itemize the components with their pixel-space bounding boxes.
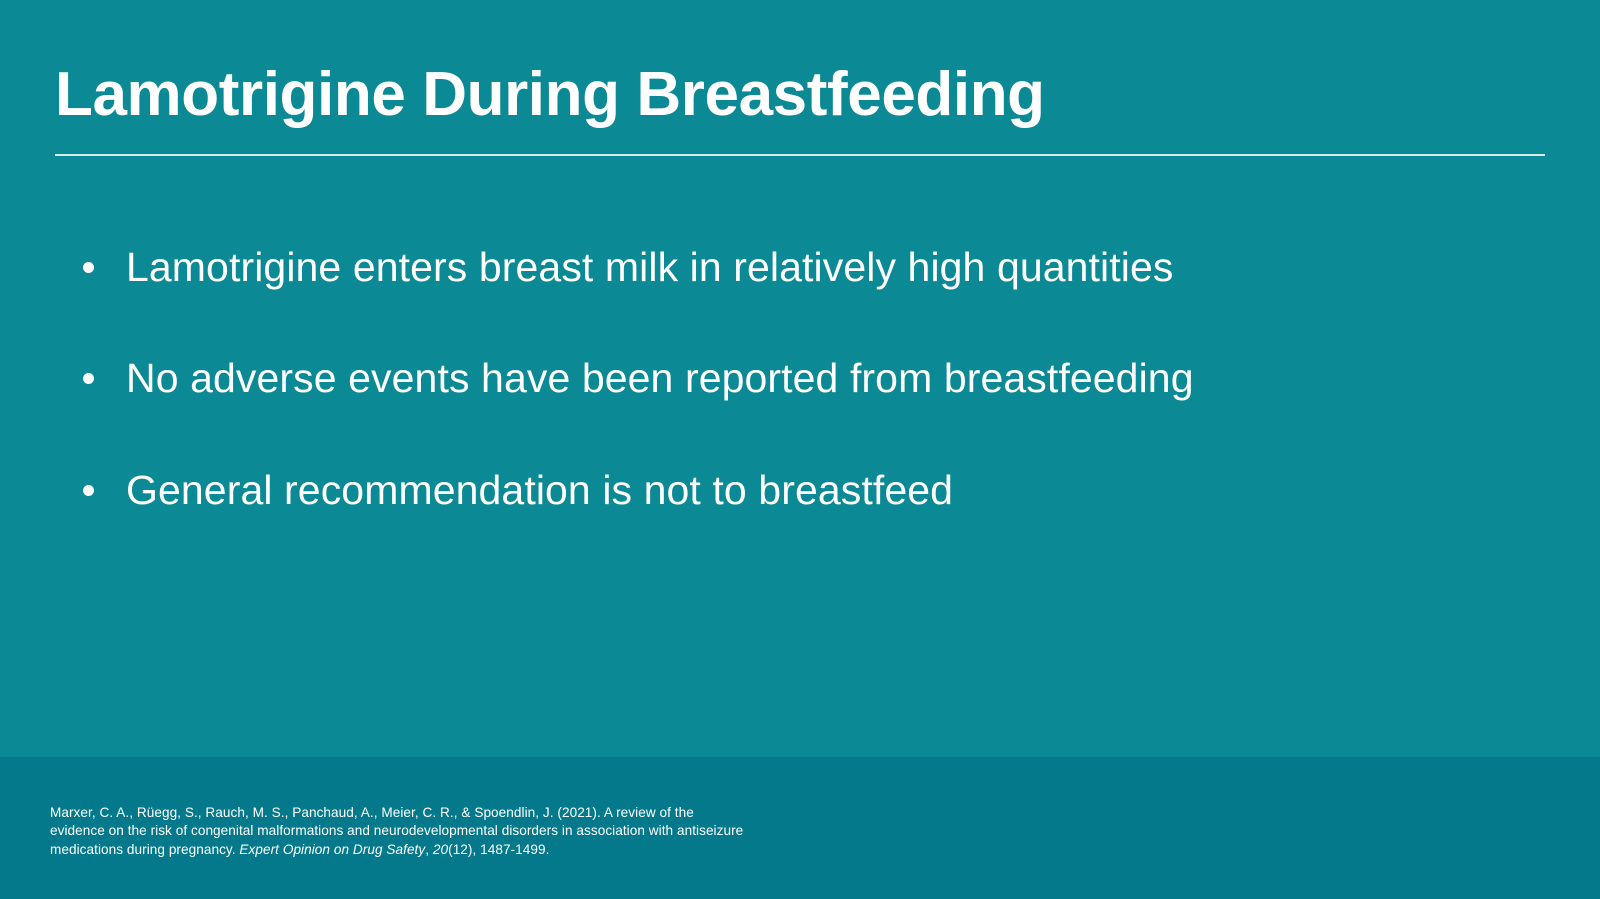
bullet-dot-icon bbox=[83, 485, 94, 496]
slide: Lamotrigine During Breastfeeding Lamotri… bbox=[0, 0, 1600, 899]
list-item: General recommendation is not to breastf… bbox=[78, 466, 1538, 514]
citation-text: Marxer, C. A., Rüegg, S., Rauch, M. S., … bbox=[50, 804, 750, 860]
citation-authors: Marxer, C. A., Rüegg, S., Rauch, M. S., … bbox=[50, 805, 601, 820]
list-item-label: No adverse events have been reported fro… bbox=[126, 355, 1194, 401]
list-item: Lamotrigine enters breast milk in relati… bbox=[78, 243, 1538, 291]
bullet-dot-icon bbox=[83, 373, 94, 384]
citation-pages: 1487-1499. bbox=[480, 842, 549, 857]
title-divider bbox=[55, 154, 1545, 156]
bullet-list: Lamotrigine enters breast milk in relati… bbox=[78, 243, 1538, 514]
citation-volume: 20 bbox=[433, 842, 448, 857]
citation-journal: Expert Opinion on Drug Safety bbox=[239, 842, 425, 857]
footer-band: Marxer, C. A., Rüegg, S., Rauch, M. S., … bbox=[0, 757, 1600, 899]
list-item-label: General recommendation is not to breastf… bbox=[126, 467, 953, 513]
list-item-label: Lamotrigine enters breast milk in relati… bbox=[126, 244, 1173, 290]
bullet-dot-icon bbox=[83, 262, 94, 273]
page-title: Lamotrigine During Breastfeeding bbox=[55, 62, 1545, 128]
list-item: No adverse events have been reported fro… bbox=[78, 354, 1538, 402]
citation-comma: , bbox=[425, 842, 433, 857]
title-block: Lamotrigine During Breastfeeding bbox=[55, 62, 1545, 128]
citation-issue: (12), bbox=[448, 842, 476, 857]
